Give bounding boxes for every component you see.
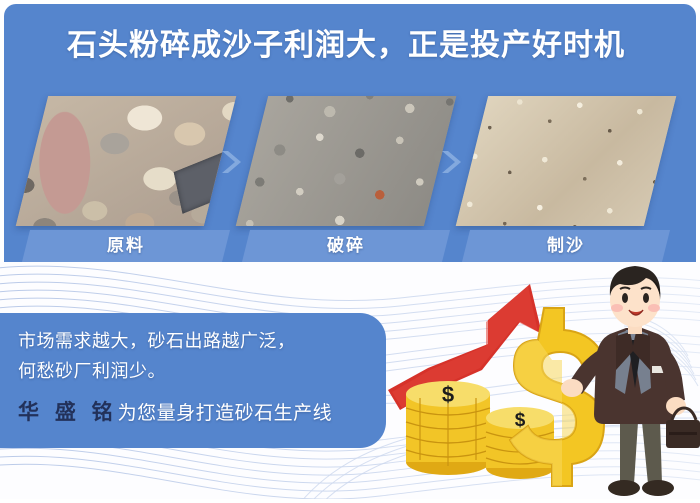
process-step-label: 制沙 [466, 230, 666, 262]
chevron-right-icon [438, 148, 464, 176]
copy-line-2: 何愁砂厂利润少。 [18, 357, 166, 385]
bottom-edge-trim [0, 499, 700, 503]
page-title: 石头粉碎成沙子利润大，正是投产好时机 [0, 26, 692, 66]
river-pebbles-photo [16, 96, 236, 226]
svg-text:$: $ [442, 382, 454, 407]
brand-tagline-line: 华 盛 铭为您量身打造砂石生产线 [18, 399, 332, 428]
coin-stack-icon: $ $ [406, 381, 554, 479]
process-step-sand-making[interactable]: 制沙 [466, 96, 666, 262]
crushed-gravel-photo [236, 96, 456, 226]
process-step-label-bar: 原料 [22, 230, 230, 262]
chevron-right-icon [218, 148, 244, 176]
brand-name: 华 盛 铭 [18, 401, 118, 424]
business-illustration: $ $ [370, 262, 700, 503]
process-step-raw-material[interactable]: 原料 [26, 96, 226, 262]
copy-line-1: 市场需求越大，砂石出路越广泛， [18, 327, 296, 355]
tagline-text: 为您量身打造砂石生产线 [118, 403, 333, 424]
marketing-copy-panel: 市场需求越大，砂石出路越广泛， 何愁砂厂利润少。 华 盛 铭为您量身打造砂石生产… [0, 313, 386, 448]
process-step-crushing[interactable]: 破碎 [246, 96, 446, 262]
process-step-label: 原料 [26, 230, 226, 262]
process-step-label-bar: 制沙 [462, 230, 670, 262]
process-step-label: 破碎 [246, 230, 446, 262]
promotional-banner: 石头粉碎成沙子利润大，正是投产好时机 原料 破碎 [0, 0, 700, 503]
manufactured-sand-photo [456, 96, 676, 226]
process-step-label-bar: 破碎 [242, 230, 450, 262]
process-flow: 原料 破碎 [0, 96, 692, 262]
